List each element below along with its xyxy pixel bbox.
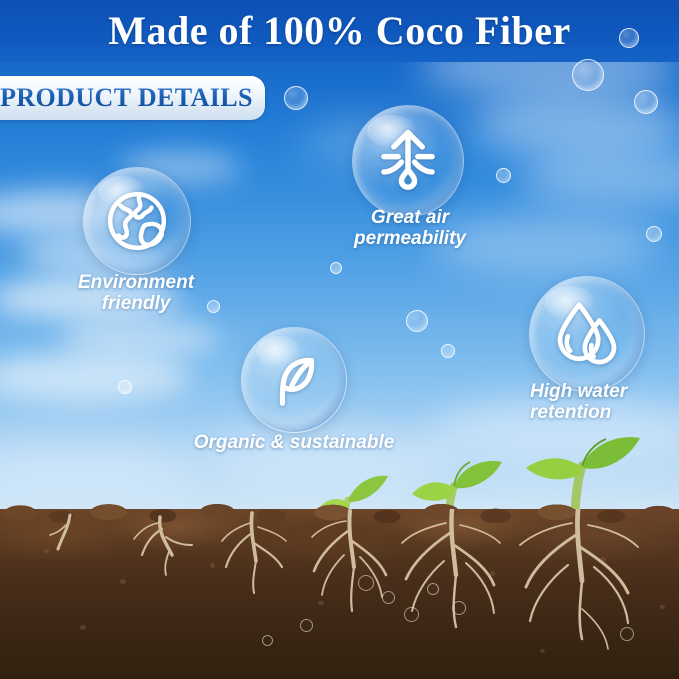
feature-label-high-water-retention: High water retention [530, 381, 679, 424]
air-permeability-icon [373, 126, 443, 196]
coco-fiber-loop [620, 627, 634, 641]
soil-speck [44, 549, 49, 553]
root-system [0, 509, 679, 679]
decorative-bubble-icon [330, 262, 342, 274]
soil-speck [318, 601, 324, 605]
coco-fiber-loop [358, 575, 374, 591]
feature-great-air-permeability[interactable] [352, 105, 464, 217]
soil-speck [80, 625, 86, 630]
feature-label-environment-friendly: Environment friendly [58, 272, 214, 315]
decorative-bubble-icon [496, 168, 511, 183]
coco-fiber-loop [262, 635, 273, 646]
soil-speck [600, 557, 606, 562]
soil-speck [660, 605, 665, 609]
leaf-icon [263, 349, 325, 411]
decorative-bubble-icon [619, 28, 639, 48]
decorative-bubble-icon [406, 310, 428, 332]
soil-speck [490, 571, 495, 576]
coco-fiber-loop [404, 607, 419, 622]
product-details-badge-label: PRODUCT DETAILS [0, 83, 253, 113]
soil-speck [210, 563, 215, 568]
feature-label-great-air-permeability: Great air permeability [336, 207, 484, 250]
decorative-bubble-icon [284, 86, 308, 110]
coco-fiber-loop [382, 591, 395, 604]
decorative-bubble-icon [118, 380, 132, 394]
decorative-bubble-icon [441, 344, 455, 358]
coco-fiber-loop [427, 583, 439, 595]
feature-label-organic-sustainable: Organic & sustainable [160, 432, 428, 453]
decorative-bubble-icon [572, 59, 604, 91]
feature-organic-sustainable[interactable] [241, 327, 347, 433]
feature-bubble [241, 327, 347, 433]
product-details-badge[interactable]: PRODUCT DETAILS [0, 76, 265, 120]
product-details-banner: Made of 100% Coco Fiber PRODUCT DETAILS … [0, 0, 679, 679]
decorative-bubble-icon [646, 226, 662, 242]
feature-bubble [352, 105, 464, 217]
soil-speck [120, 579, 126, 584]
water-drop-icon [551, 298, 623, 370]
coco-fiber-loop [300, 619, 313, 632]
soil-layer [0, 509, 679, 679]
feature-bubble [83, 167, 191, 275]
page-title: Made of 100% Coco Fiber [0, 4, 679, 56]
feature-high-water-retention[interactable] [529, 276, 645, 392]
coco-fiber-loop [452, 601, 466, 615]
globe-icon [104, 188, 170, 254]
feature-environment-friendly[interactable] [83, 167, 191, 275]
feature-bubble [529, 276, 645, 392]
soil-speck [540, 649, 545, 653]
decorative-bubble-icon [634, 90, 658, 114]
